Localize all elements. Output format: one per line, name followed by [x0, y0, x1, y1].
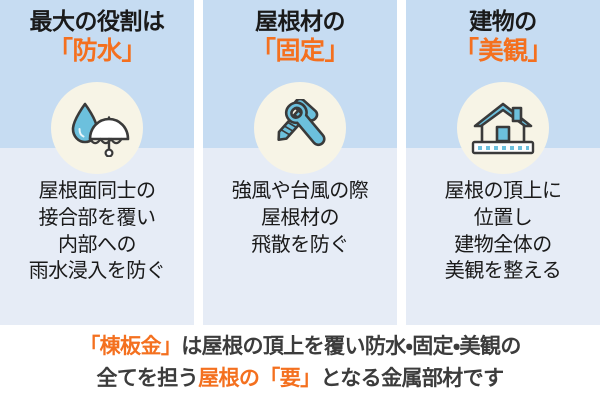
body-line: 建物全体の	[406, 232, 600, 259]
icon-circle-waterproof	[51, 82, 143, 174]
summary-banner: 「棟板金」は屋根の頂上を覆い防水・固定・美観の 全てを担う屋根の「要」となる金属…	[0, 325, 600, 400]
heading-line-1: 屋根材の	[203, 8, 397, 35]
summary-line-1: 「棟板金」は屋根の頂上を覆い防水・固定・美観の	[79, 331, 520, 363]
summary-line-2-suffix: となる金属部材です	[321, 367, 504, 390]
heading-line-2-keyword: 「防水」	[0, 37, 194, 67]
heading-line-1: 最大の役割は	[0, 8, 194, 35]
house-ruler-icon	[469, 100, 537, 156]
column-body-appearance: 屋根の頂上に 位置し 建物全体の 美観を整える	[406, 178, 600, 285]
body-line: 接合部を覆い	[0, 205, 194, 232]
screw-wrench-icon	[268, 99, 332, 157]
body-line: 内部への	[0, 232, 194, 259]
body-line: 位置し	[406, 205, 600, 232]
column-fixing: 屋根材の 「固定」	[203, 0, 397, 325]
column-appearance: 建物の 「美観」	[406, 0, 600, 325]
infographic-root: 最大の役割は 「防水」	[0, 0, 600, 400]
summary-line-2: 全てを担う屋根の「要」となる金属部材です	[97, 363, 504, 395]
column-body-waterproof: 屋根面同士の 接合部を覆い 内部への 雨水浸入を防ぐ	[0, 178, 194, 285]
column-heading: 屋根材の 「固定」	[203, 0, 397, 67]
body-line: 屋根の頂上に	[406, 178, 600, 205]
column-heading: 最大の役割は 「防水」	[0, 0, 194, 67]
icon-circle-fixing	[254, 82, 346, 174]
heading-line-2-keyword: 「美観」	[406, 37, 600, 67]
column-waterproof: 最大の役割は 「防水」	[0, 0, 194, 325]
heading-line-2-keyword: 「固定」	[203, 37, 397, 67]
columns-container: 最大の役割は 「防水」	[0, 0, 600, 325]
column-heading: 建物の 「美観」	[406, 0, 600, 67]
body-line: 雨水浸入を防ぐ	[0, 258, 194, 285]
summary-line-2-prefix: 全てを担う	[97, 367, 199, 390]
body-line: 美観を整える	[406, 258, 600, 285]
body-line: 強風や台風の際	[203, 178, 397, 205]
water-drop-umbrella-icon	[64, 99, 130, 157]
column-body-fixing: 強風や台風の際 屋根材の 飛散を防ぐ	[203, 178, 397, 258]
body-line: 屋根材の	[203, 205, 397, 232]
icon-circle-appearance	[457, 82, 549, 174]
summary-keyword-kaname: 屋根の「要」	[198, 367, 320, 390]
summary-keyword-munaita: 「棟板金」	[79, 335, 181, 358]
body-line: 屋根面同士の	[0, 178, 194, 205]
summary-line-1-text: は屋根の頂上を覆い防水・固定・美観の	[181, 335, 520, 358]
body-line: 飛散を防ぐ	[203, 232, 397, 259]
heading-line-1: 建物の	[406, 8, 600, 35]
